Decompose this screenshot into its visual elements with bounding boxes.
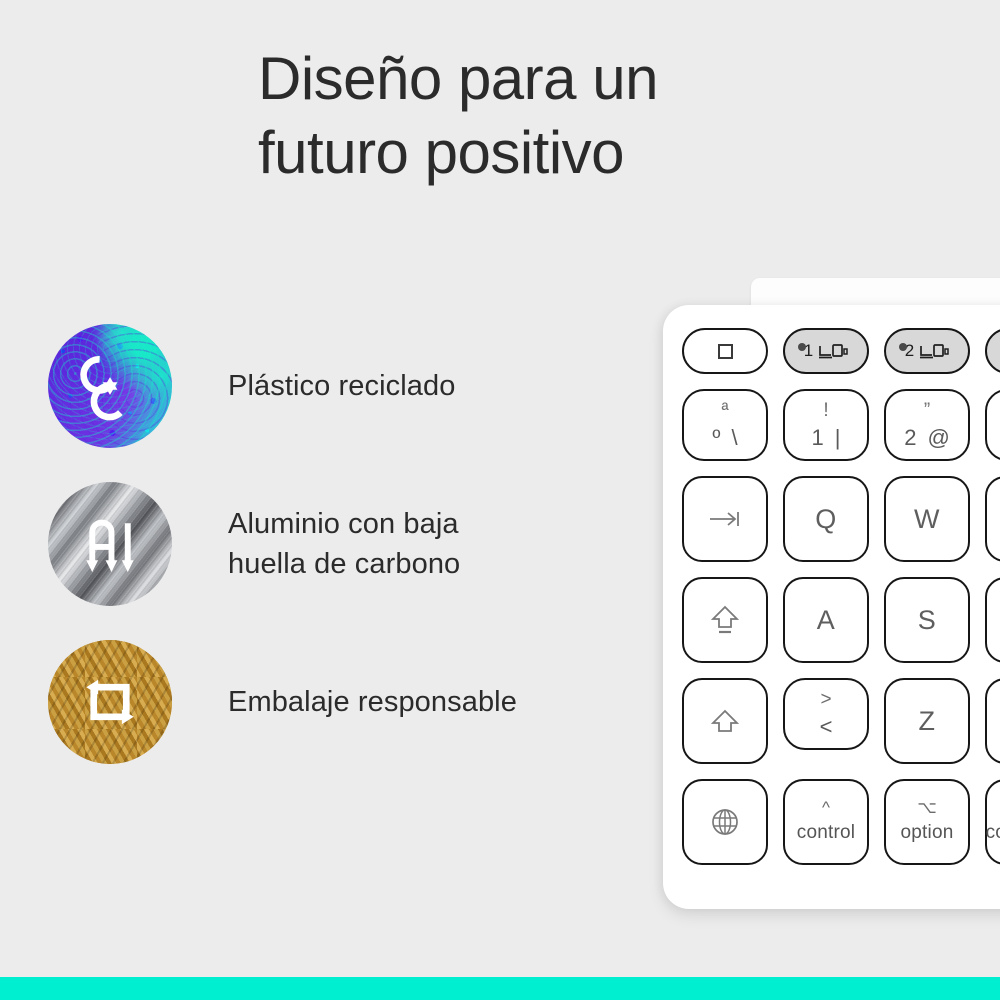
key-2[interactable]: ” 2 @ bbox=[884, 389, 970, 461]
key-1-upper: ! bbox=[823, 401, 828, 420]
key-q[interactable]: Q bbox=[783, 476, 869, 562]
shift-arrow-icon bbox=[711, 707, 739, 735]
key-x[interactable]: X bbox=[985, 678, 1000, 764]
shift-row: > < Z X bbox=[682, 678, 1000, 764]
capslock-row: A S D bbox=[682, 577, 1000, 663]
key-angle-upper: > bbox=[820, 690, 831, 709]
key-2-main: 2 bbox=[904, 427, 916, 449]
feature-label: Embalaje responsable bbox=[228, 682, 517, 722]
sustainability-feature-list: Plástico reciclado Aluminio con baja hue… bbox=[48, 320, 648, 794]
key-2-upper: ” bbox=[924, 401, 930, 420]
key-a-label: A bbox=[817, 605, 836, 636]
tab-arrow-icon bbox=[707, 509, 743, 529]
key-control-symbol: ^ bbox=[822, 800, 830, 816]
key-command-label: command bbox=[986, 822, 1000, 844]
key-escape[interactable] bbox=[682, 328, 768, 374]
key-easyswitch-2[interactable]: 2 bbox=[884, 328, 970, 374]
globe-icon bbox=[710, 807, 740, 837]
responsible-packaging-badge bbox=[48, 640, 172, 764]
feature-label: Aluminio con baja huella de carbono bbox=[228, 504, 460, 584]
capslock-arrow-icon bbox=[711, 604, 739, 636]
key-1-alt: | bbox=[835, 427, 841, 449]
key-q-label: Q bbox=[815, 504, 837, 535]
modifier-row: ^ control ⌥ option ⌘ command bbox=[682, 779, 1000, 865]
key-a[interactable]: A bbox=[783, 577, 869, 663]
key-control-label: control bbox=[797, 822, 855, 844]
brand-accent-bar bbox=[0, 977, 1000, 1000]
low-carbon-aluminium-badge bbox=[48, 482, 172, 606]
key-z[interactable]: Z bbox=[884, 678, 970, 764]
led-indicator bbox=[798, 343, 806, 351]
function-row: 1 2 bbox=[682, 328, 1000, 374]
feature-label: Plástico reciclado bbox=[228, 366, 455, 406]
square-outline-icon bbox=[717, 343, 734, 360]
number-row: ª º \ ! 1 | ” 2 @ · bbox=[682, 389, 1000, 461]
packaging-repeat-icon bbox=[73, 665, 147, 739]
feature-item-recycled-plastic: Plástico reciclado bbox=[48, 320, 648, 452]
key-1-main: 1 bbox=[812, 427, 824, 449]
key-option-symbol: ⌥ bbox=[917, 800, 937, 816]
key-w-label: W bbox=[914, 504, 940, 535]
page-title: Diseño para un futuro positivo bbox=[258, 42, 898, 190]
key-shift[interactable] bbox=[682, 678, 768, 764]
feature-item-responsible-packaging: Embalaje responsable bbox=[48, 636, 648, 768]
keyboard-product-image: 1 2 bbox=[663, 278, 1000, 910]
key-angle[interactable]: > < bbox=[783, 678, 869, 750]
key-control[interactable]: ^ control bbox=[783, 779, 869, 865]
key-ordinal-alt: \ bbox=[731, 427, 737, 449]
key-command[interactable]: ⌘ command bbox=[985, 779, 1000, 865]
key-e[interactable]: E bbox=[985, 476, 1000, 562]
led-indicator bbox=[899, 343, 907, 351]
key-capslock[interactable] bbox=[682, 577, 768, 663]
key-d[interactable]: D bbox=[985, 577, 1000, 663]
key-easyswitch-1[interactable]: 1 bbox=[783, 328, 869, 374]
key-w[interactable]: W bbox=[884, 476, 970, 562]
key-ordinal-upper: ª bbox=[721, 401, 728, 420]
keyboard-key-grid: 1 2 bbox=[682, 328, 1000, 880]
key-tab[interactable] bbox=[682, 476, 768, 562]
key-s[interactable]: S bbox=[884, 577, 970, 663]
key-easyswitch-3[interactable]: 3 bbox=[985, 328, 1000, 374]
key-s-label: S bbox=[918, 605, 937, 636]
key-2-alt: @ bbox=[927, 427, 949, 449]
key-1[interactable]: ! 1 | bbox=[783, 389, 869, 461]
key-globe[interactable] bbox=[682, 779, 768, 865]
tab-row: Q W E bbox=[682, 476, 1000, 562]
recycle-loop-icon bbox=[73, 349, 147, 423]
key-3[interactable]: · 3 # bbox=[985, 389, 1000, 461]
key-option-label: option bbox=[901, 822, 954, 844]
key-z-label: Z bbox=[919, 706, 936, 737]
aluminium-down-arrows-icon bbox=[73, 507, 147, 581]
recycled-plastic-badge bbox=[48, 324, 172, 448]
device-switch-icon bbox=[919, 343, 949, 360]
key-option[interactable]: ⌥ option bbox=[884, 779, 970, 865]
key-ordinal[interactable]: ª º \ bbox=[682, 389, 768, 461]
key-ordinal-main: º bbox=[712, 427, 720, 449]
key-angle-main: < bbox=[820, 716, 833, 738]
device-switch-icon bbox=[818, 343, 848, 360]
feature-item-low-carbon-aluminium: Aluminio con baja huella de carbono bbox=[48, 478, 648, 610]
